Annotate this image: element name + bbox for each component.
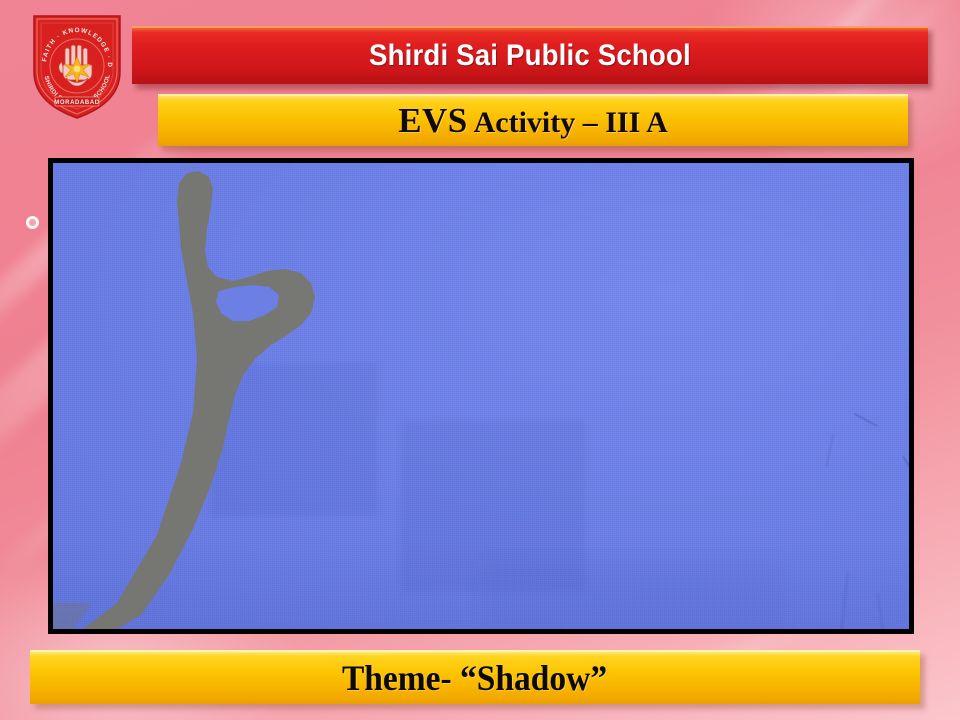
school-name-banner: Shirdi Sai Public School — [132, 26, 928, 84]
school-crest-logo: FAITH · KNOWLEDGE · DUTY SHIRDI SAI PUBL… — [28, 8, 126, 122]
school-name-text: Shirdi Sai Public School — [369, 39, 691, 73]
hand-shadow-silhouette — [53, 163, 909, 629]
slide-canvas: FAITH · KNOWLEDGE · DUTY SHIRDI SAI PUBL… — [0, 0, 960, 720]
activity-subtitle-banner: EVS Activity – III A — [158, 94, 908, 146]
activity-photo — [48, 158, 914, 634]
activity-subject-label: EVS — [398, 101, 468, 140]
theme-label-text: Theme- “Shadow” — [342, 657, 607, 699]
theme-banner: Theme- “Shadow” — [30, 650, 920, 704]
activity-detail-label: Activity – III A — [468, 106, 668, 139]
decorative-dot — [26, 216, 39, 229]
svg-text:MORADABAD: MORADABAD — [54, 100, 99, 106]
activity-subtitle-text: EVS Activity – III A — [398, 101, 668, 141]
